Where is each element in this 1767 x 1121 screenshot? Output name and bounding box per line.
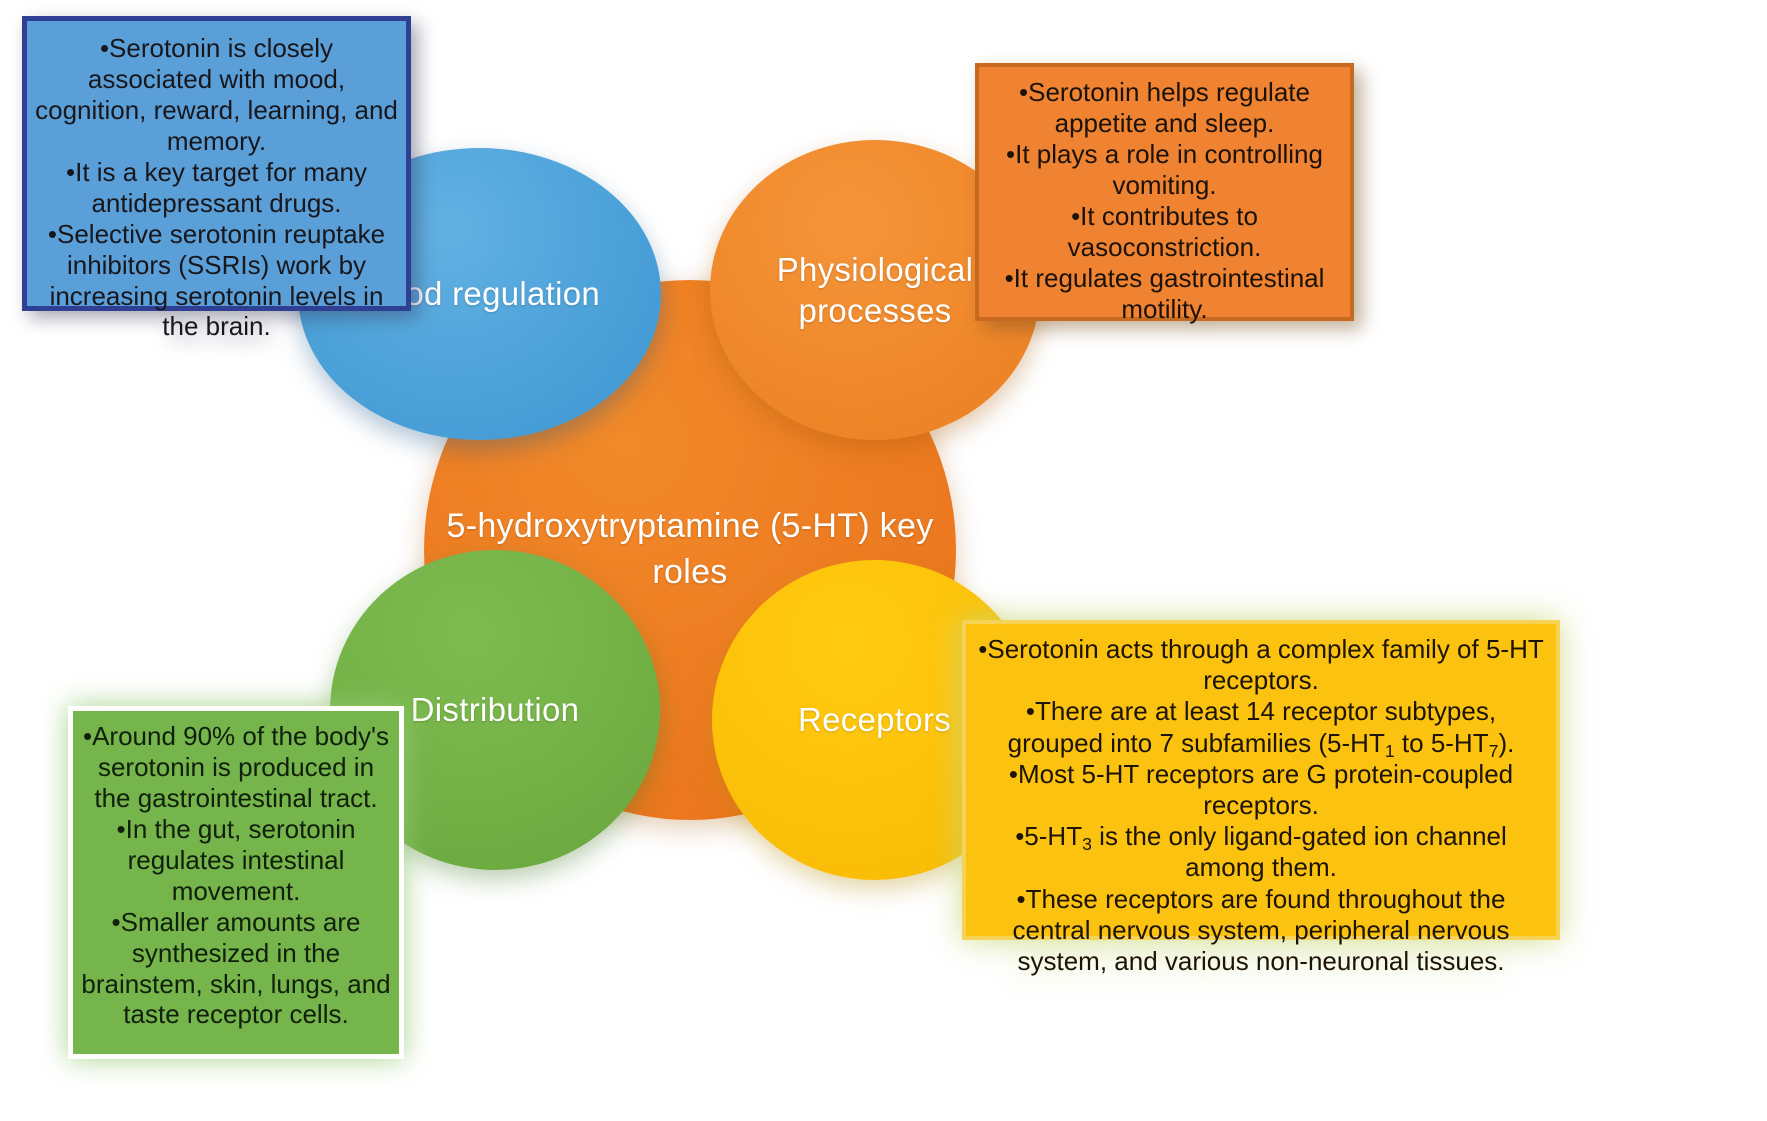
node-receptors-label: Receptors	[786, 699, 963, 740]
diagram-canvas: 5-hydroxytryptamine (5-HT) key roles Moo…	[0, 0, 1767, 1121]
callout-receptors[interactable]: •Serotonin acts through a complex family…	[962, 620, 1560, 940]
callout-mood-regulation-text: •Serotonin is closely associated with mo…	[35, 33, 398, 342]
node-distribution-label: Distribution	[399, 689, 592, 730]
callout-physiological-processes[interactable]: •Serotonin helps regulate appetite and s…	[975, 63, 1354, 321]
callout-receptors-text: •Serotonin acts through a complex family…	[976, 634, 1546, 977]
callout-distribution[interactable]: •Around 90% of the body's serotonin is p…	[68, 706, 404, 1059]
callout-physiological-processes-text: •Serotonin helps regulate appetite and s…	[985, 77, 1344, 325]
callout-mood-regulation[interactable]: •Serotonin is closely associated with mo…	[22, 16, 411, 311]
callout-distribution-text: •Around 90% of the body's serotonin is p…	[79, 721, 393, 1030]
